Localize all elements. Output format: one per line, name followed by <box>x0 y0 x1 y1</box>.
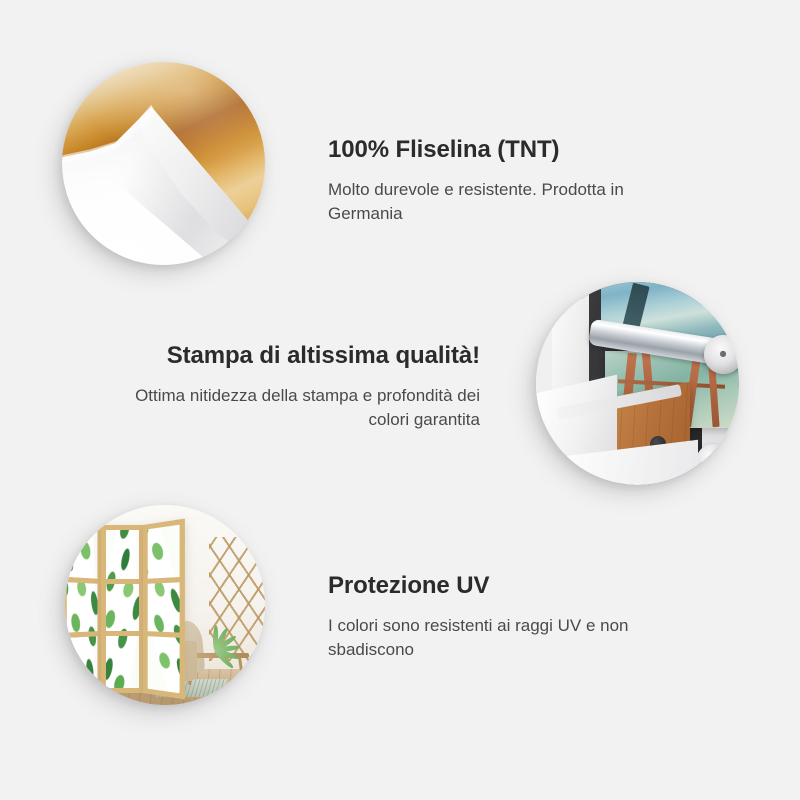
feature-body-stampa: Ottima nitidezza della stampa e profondi… <box>120 384 480 432</box>
leaf-pattern <box>67 524 98 693</box>
feature-body-fliselina: Molto durevole e resistente. Prodotta in… <box>328 178 688 226</box>
printer-illustration <box>536 282 739 485</box>
tropical-leaf-icon <box>106 530 140 688</box>
feature-image-stampa <box>536 282 739 485</box>
feature-text-uv: Protezione UV I colori sono resistenti a… <box>328 572 688 662</box>
leaf-pattern <box>148 525 180 694</box>
folding-screen-icon <box>65 525 189 693</box>
wallpaper-peel-illustration <box>62 62 265 265</box>
tropical-leaf-icon <box>148 525 180 694</box>
tropical-leaf-icon <box>67 524 98 693</box>
feature-image-uv <box>65 505 265 705</box>
surface-sheen-icon <box>62 62 265 265</box>
panel-crossbar <box>106 631 140 636</box>
panel-crossbar <box>106 579 140 584</box>
feature-panel: 100% Fliselina (TNT) Molto durevole e re… <box>0 0 800 800</box>
feature-heading-stampa: Stampa di altissima qualità! <box>120 342 480 371</box>
feature-heading-fliselina: 100% Fliselina (TNT) <box>328 136 688 165</box>
feature-body-uv: I colori sono resistenti ai raggi UV e n… <box>328 614 688 662</box>
leaf-pattern <box>106 530 140 688</box>
potted-palm-icon <box>191 605 243 673</box>
screen-panel <box>143 518 185 699</box>
screen-panel <box>101 525 145 693</box>
feature-text-fliselina: 100% Fliselina (TNT) Molto durevole e re… <box>328 136 688 226</box>
feature-heading-uv: Protezione UV <box>328 572 688 601</box>
screen-panel <box>65 518 102 700</box>
feature-text-stampa: Stampa di altissima qualità! Ottima niti… <box>120 342 480 432</box>
feature-image-fliselina <box>62 62 265 265</box>
room-divider-illustration <box>65 505 265 705</box>
printer-wheel-icon <box>696 444 731 479</box>
